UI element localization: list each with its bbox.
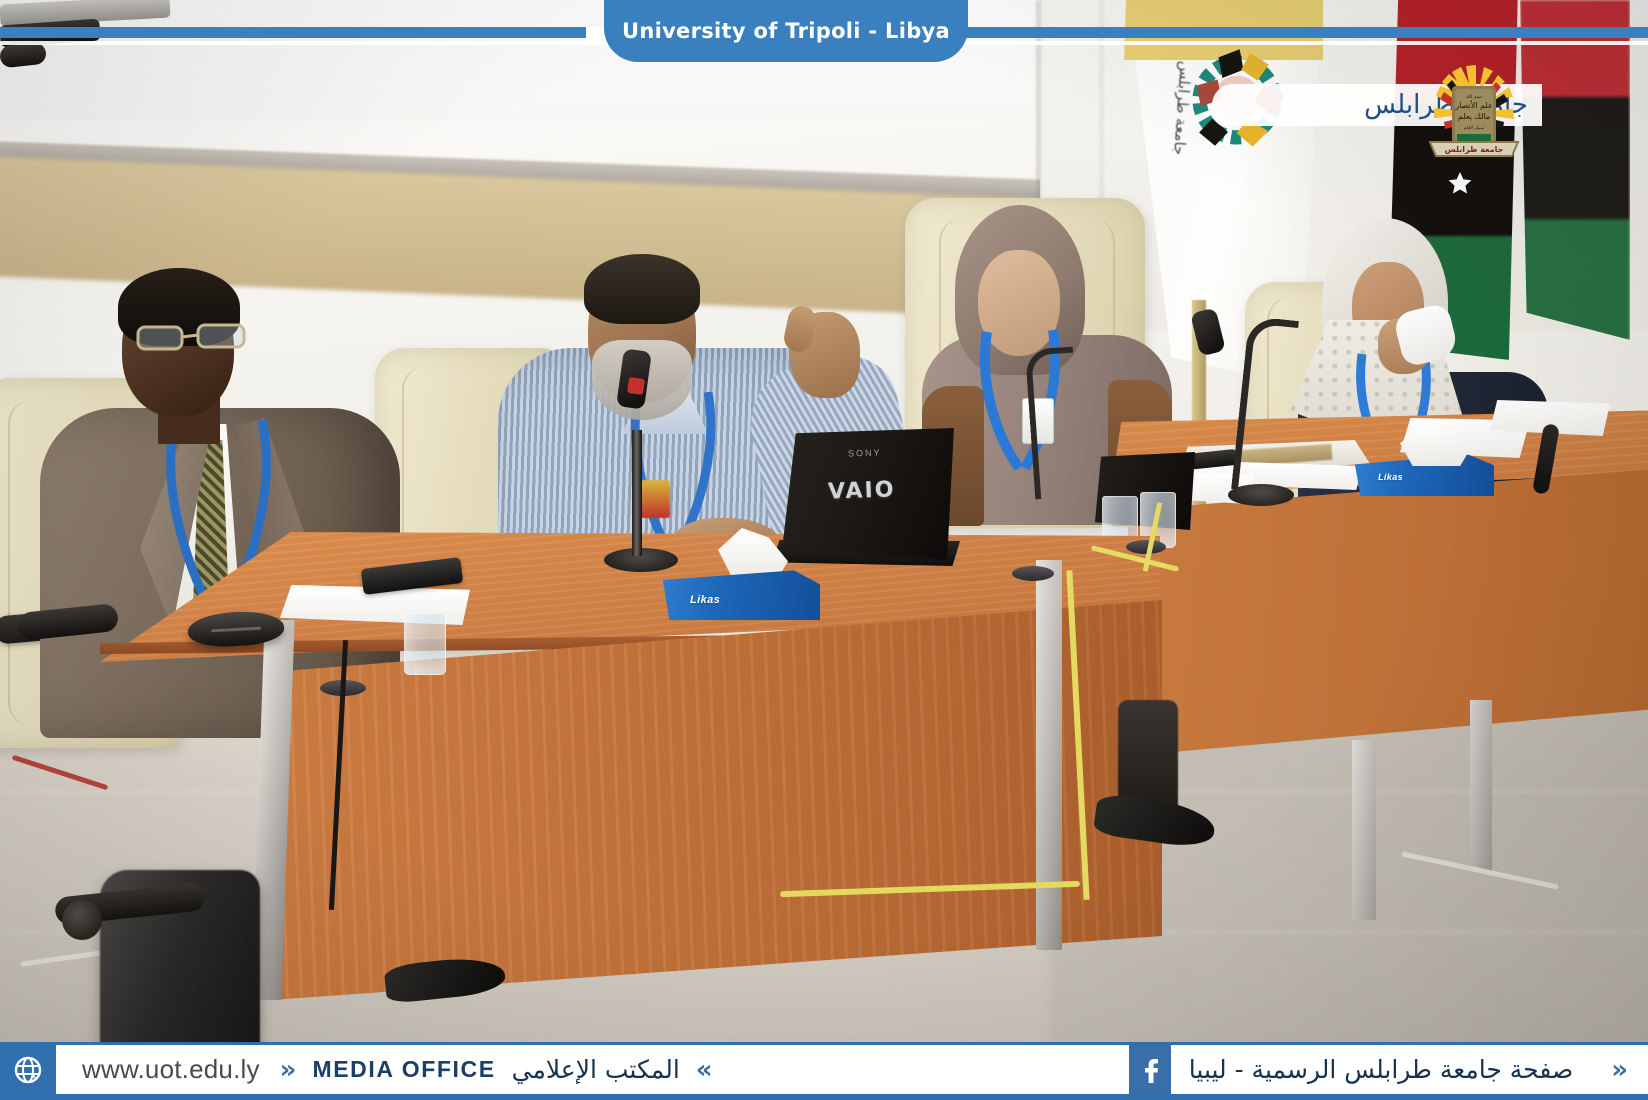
svg-text:جامعة طرابلس: جامعة طرابلس	[1445, 145, 1504, 155]
desk-leg	[1036, 560, 1062, 950]
facebook-chevron-group: »	[1591, 1045, 1648, 1094]
laptop-maker-label: SONY	[848, 447, 882, 458]
eyeglasses-icon	[136, 322, 248, 352]
media-office-label-ar: المكتب الإعلامي	[512, 1055, 680, 1084]
media-office-group: » MEDIA OFFICE المكتب الإعلامي «	[260, 1045, 733, 1094]
panelist-2-hair	[584, 254, 700, 324]
university-seal-icon: بسم الله علم الأنصار مالك يعلم سبيل العل…	[1408, 62, 1540, 166]
footer-spacer	[733, 1045, 1129, 1094]
facebook-page-label[interactable]: صفحة جامعة طرابلس الرسمية - ليبيا	[1171, 1045, 1591, 1094]
libya-flag-secondary	[1520, 0, 1630, 340]
facebook-icon	[1138, 1057, 1162, 1083]
page-title: University of Tripoli - Libya	[622, 19, 950, 43]
svg-text:علم الأنصار: علم الأنصار	[1454, 100, 1493, 110]
laptop-brand-label: VAIO	[828, 476, 921, 505]
svg-text:سبيل العلم: سبيل العلم	[1464, 126, 1485, 131]
panelist-2-badge	[640, 480, 670, 518]
facebook-icon-box[interactable]	[1129, 1045, 1171, 1094]
chair-castor	[62, 900, 102, 940]
tissue-brand-label: Likas	[1378, 472, 1403, 482]
conference-photograph: جامعة طرابلس	[0, 0, 1648, 1100]
website-url[interactable]: www.uot.edu.ly	[56, 1045, 260, 1094]
svg-text:بسم الله: بسم الله	[1466, 95, 1482, 100]
media-office-label-en: MEDIA OFFICE	[312, 1056, 495, 1083]
microphone-base	[1228, 484, 1294, 506]
screenshot-root: جامعة طرابلس	[0, 0, 1648, 1100]
cable-grommet	[1012, 566, 1054, 581]
facebook-group[interactable]: صفحة جامعة طرابلس الرسمية - ليبيا	[1129, 1045, 1591, 1094]
desk-right-leg	[1352, 740, 1376, 920]
page-title-tab: University of Tripoli - Libya	[604, 0, 968, 62]
svg-text:مالك يعلم: مالك يعلم	[1458, 112, 1491, 121]
water-glass	[404, 613, 446, 675]
tissue-brand-label: Likas	[690, 594, 720, 606]
chevron-right-icon: »	[1611, 1057, 1628, 1083]
footer-bar: www.uot.edu.ly » MEDIA OFFICE المكتب الإ…	[0, 1042, 1648, 1100]
microphone-band	[627, 377, 645, 395]
chevron-left-icon: «	[696, 1057, 713, 1083]
globe-icon	[13, 1055, 43, 1085]
microphone-stem	[632, 430, 642, 556]
website-icon-box[interactable]	[0, 1045, 56, 1094]
desk-right-leg	[1470, 700, 1492, 870]
chevron-right-icon: »	[280, 1057, 297, 1083]
